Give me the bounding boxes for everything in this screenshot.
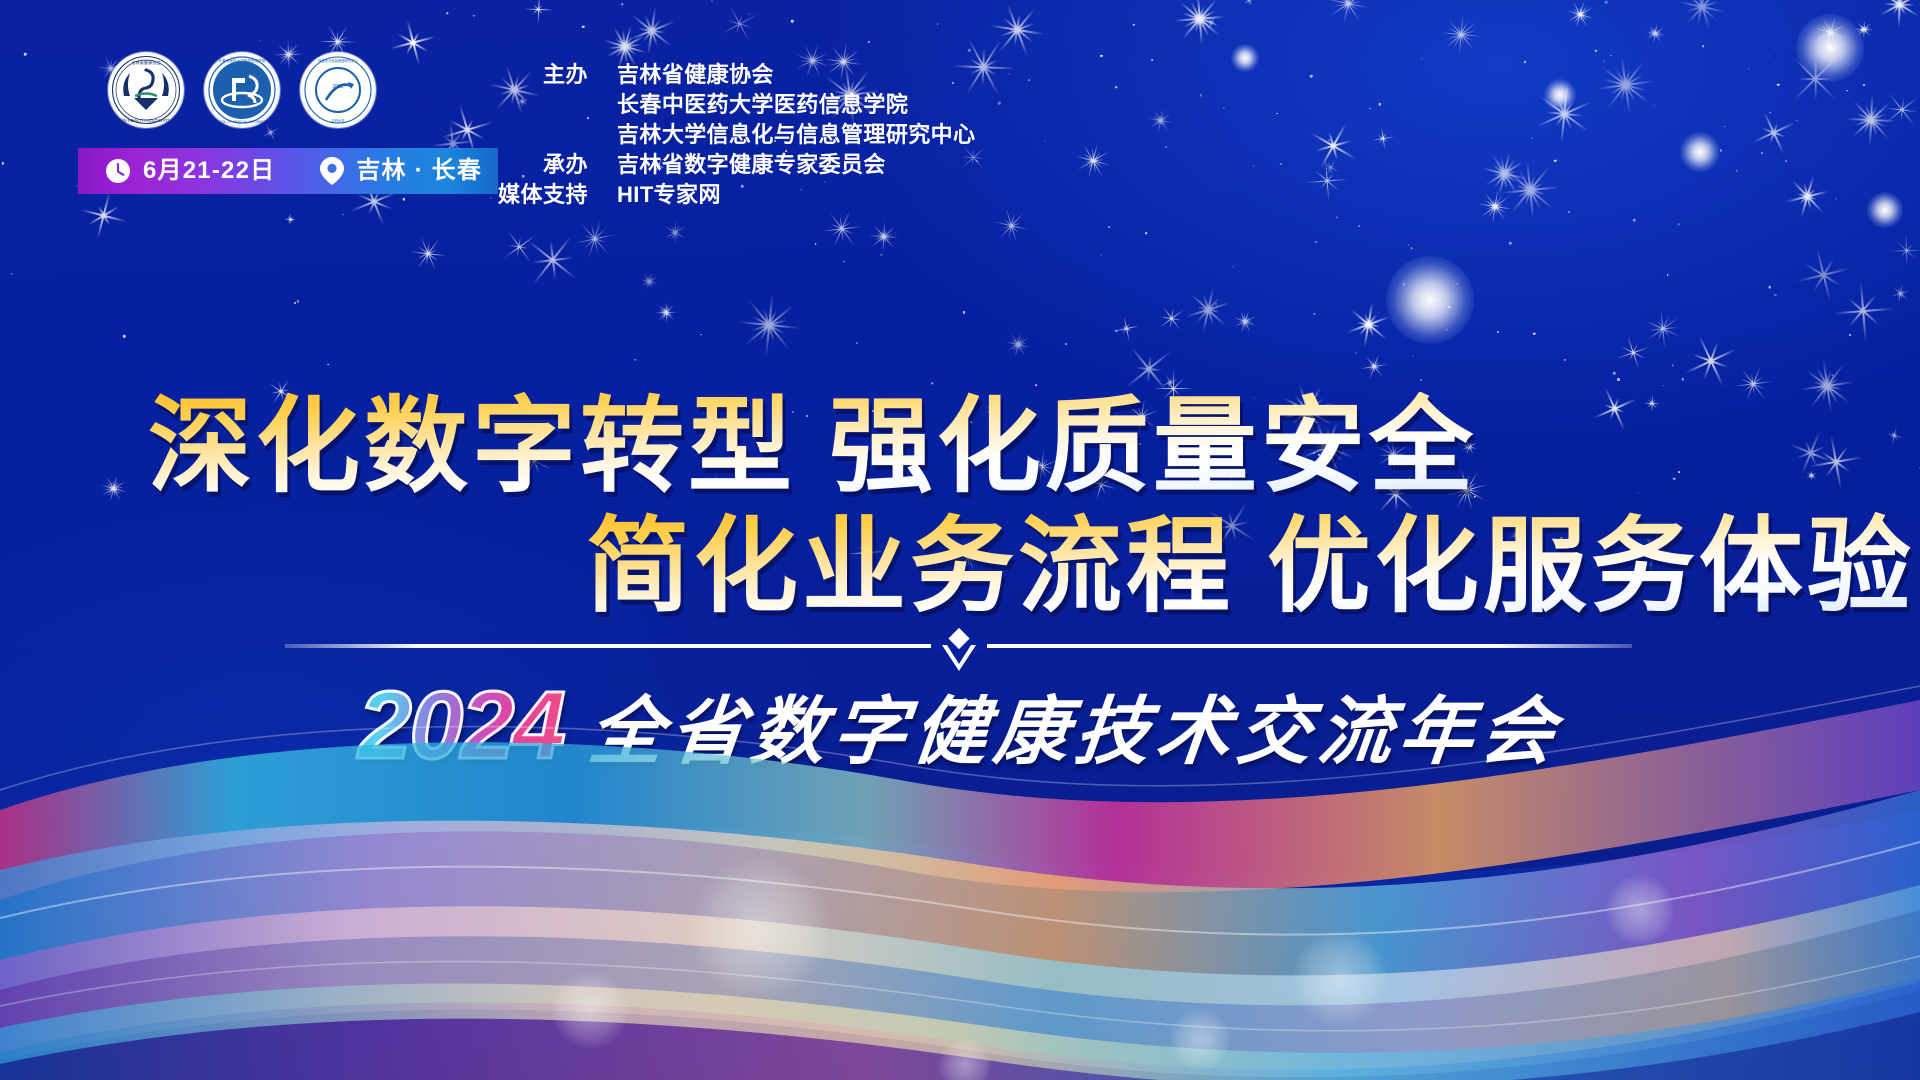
clock-icon [104, 157, 132, 185]
star-dot [1028, 79, 1030, 81]
organizer-label: 媒体支持 [498, 180, 601, 210]
star-dot [1617, 378, 1619, 380]
svg-text:吉林省健康协会: 吉林省健康协会 [131, 59, 161, 66]
star-dot [1448, 305, 1450, 307]
star-dot [700, 334, 702, 336]
svg-text:SCHOOL OF MEDICAL INFORMATION: SCHOOL OF MEDICAL INFORMATION [212, 120, 273, 124]
star-dot [968, 49, 971, 52]
star-dot [1769, 112, 1771, 114]
star-dot [998, 102, 1001, 105]
star-dot [1724, 126, 1726, 128]
star-dot [1408, 245, 1409, 246]
star-dot [932, 383, 933, 384]
organizer-value: 吉林省健康协会 [603, 60, 975, 90]
star-dot [1603, 61, 1604, 62]
star-dot [963, 311, 965, 313]
svg-text:信息化与信息管理研究中心: 信息化与信息管理研究中心 [318, 58, 358, 63]
star-dot [1100, 254, 1101, 255]
location-group: 吉林 · 长春 [319, 156, 482, 186]
star-dot [1863, 83, 1865, 85]
headline-line-2: 简化业务流程 优化服务体验 [586, 512, 1915, 622]
star-dot [1115, 329, 1117, 331]
star-dot [1420, 380, 1422, 382]
star-dot [1832, 375, 1833, 376]
star-dot [1672, 365, 1673, 366]
star-dot [868, 41, 870, 43]
star-dot [1200, 94, 1202, 96]
svg-text:长春中医药大学医药信息学院: 长春中医药大学医药信息学院 [219, 58, 266, 63]
star-dot [1044, 140, 1046, 142]
star-dot [1849, 334, 1851, 336]
star-dot [24, 53, 26, 55]
star-dot [1524, 61, 1526, 63]
star-dot [1315, 241, 1317, 243]
star-dot [815, 243, 817, 245]
star-dot [1633, 219, 1636, 222]
star-dot [327, 364, 329, 366]
organizers-block: 主办吉林省健康协会长春中医药大学医药信息学院吉林大学信息化与信息管理研究中心承办… [498, 60, 975, 210]
star-dot [1736, 169, 1739, 172]
star-dot [1232, 266, 1234, 268]
star-dot [343, 214, 345, 216]
svg-text:JILIN HEALTH ASSOCIATION: JILIN HEALTH ASSOCIATION [116, 118, 175, 123]
star-dot [1761, 152, 1763, 154]
star-dot [582, 26, 585, 29]
star-dot [976, 160, 978, 162]
organizer-value: HIT专家网 [603, 180, 975, 210]
star-dot [1663, 385, 1665, 387]
star-dot [1667, 274, 1669, 276]
star-dot [1774, 294, 1776, 296]
star-dot [1533, 332, 1536, 335]
star-dot [1276, 113, 1278, 115]
star-dot [1846, 90, 1847, 91]
organizer-value: 长春中医药大学医药信息学院 [603, 90, 975, 120]
star-glow [1680, 132, 1720, 172]
star-dot [1769, 55, 1770, 56]
star-dot [1132, 23, 1135, 26]
jilin-health-association-logo: JILIN HEALTH ASSOCIATION 吉林省健康协会 [108, 52, 184, 128]
star-dot [1310, 75, 1312, 77]
star-dot [1355, 352, 1356, 353]
date-group: 6月21-22日 [104, 157, 275, 185]
svg-text:吉林大学: 吉林大学 [331, 118, 345, 123]
star-dot [843, 261, 845, 263]
star-dot [123, 335, 125, 337]
star-dot [791, 20, 793, 22]
star-glow [1867, 192, 1903, 228]
star-dot [1564, 359, 1566, 361]
changchun-medical-information-school-logo: 长春中医药大学医药信息学院 SCHOOL OF MEDICAL INFORMAT… [204, 52, 280, 128]
map-pin-icon [319, 156, 345, 186]
star-dot [1497, 331, 1499, 333]
star-dot [1613, 372, 1616, 375]
logo-row: JILIN HEALTH ASSOCIATION 吉林省健康协会 长春中医药大学… [108, 52, 376, 128]
star-dot [1605, 1, 1608, 4]
star-dot [621, 4, 622, 5]
headline-line-1: 深化数字转型 强化质量安全 [148, 392, 1477, 502]
star-dot [403, 198, 405, 200]
star-dot [1402, 283, 1404, 285]
star-dot [937, 23, 939, 25]
star-dot [1786, 160, 1788, 162]
star-dot [1796, 120, 1797, 121]
star-dot [297, 300, 299, 302]
star-dot [1413, 355, 1414, 356]
star-dot [1421, 58, 1422, 59]
star-dot [1447, 329, 1448, 330]
star-dot [1108, 226, 1110, 228]
headline-block: 深化数字转型 强化质量安全 简化业务流程 优化服务体验 [0, 392, 1920, 622]
wave-graphic [0, 660, 1920, 1080]
star-dot [1146, 232, 1148, 234]
star-dot [1008, 74, 1009, 75]
star-glow [1386, 256, 1474, 344]
star-dot [1100, 55, 1102, 57]
star-dot [1610, 55, 1612, 57]
star-dot [1554, 159, 1556, 161]
star-dot [712, 0, 713, 1]
star-dot [1595, 50, 1597, 52]
star-dot [490, 197, 491, 198]
organizer-value: 吉林省数字健康专家委员会 [603, 150, 975, 180]
star-dot [1379, 103, 1381, 105]
star-dot [1336, 217, 1337, 218]
star-dot [447, 13, 448, 14]
star-dot [1678, 224, 1679, 225]
star-glow [1796, 14, 1864, 82]
conference-banner: JILIN HEALTH ASSOCIATION 吉林省健康协会 长春中医药大学… [0, 0, 1920, 1080]
star-dot [1253, 165, 1254, 166]
star-dot [1653, 106, 1654, 107]
star-dot [1531, 137, 1532, 138]
organizer-label: 承办 [498, 150, 601, 180]
date-text: 6月21-22日 [143, 159, 275, 183]
star-dot [748, 14, 749, 15]
date-location-pill: 6月21-22日 吉林 · 长春 [78, 148, 498, 194]
jilin-university-information-center-logo: 2012 信息化与信息管理研究中心 吉林大学 [300, 52, 376, 128]
star-dot [856, 342, 858, 344]
star-dot [1509, 242, 1512, 245]
star-dot [1749, 68, 1750, 69]
organizer-label: 主办 [498, 60, 601, 90]
star-dot [1314, 313, 1315, 314]
star-dot [1280, 163, 1282, 165]
star-dot [1358, 225, 1360, 227]
star-dot [1702, 45, 1704, 47]
star-dot [2, 162, 4, 164]
organizer-value: 吉林大学信息化与信息管理研究中心 [603, 120, 975, 150]
star-dot [1151, 59, 1153, 61]
star-dot [1836, 198, 1837, 199]
star-glow [1231, 44, 1259, 72]
star-dot [11, 274, 12, 275]
star-dot [1165, 146, 1167, 148]
star-dot [1369, 108, 1371, 110]
star-dot [1035, 384, 1037, 386]
star-dot [1215, 303, 1217, 305]
star-dot [1568, 211, 1570, 213]
star-dot [1681, 378, 1684, 381]
star-dot [294, 302, 296, 304]
star-glow [1544, 79, 1576, 111]
star-dot [881, 254, 882, 255]
star-dot [1065, 343, 1067, 345]
star-dot [635, 359, 636, 360]
star-dot [1906, 250, 1907, 251]
star-dot [1457, 283, 1458, 284]
star-dot [1777, 84, 1780, 87]
star-dot [1768, 286, 1771, 289]
star-dot [1329, 139, 1331, 141]
star-dot [1115, 87, 1116, 88]
star-dot [472, 15, 474, 17]
star-dot [1720, 149, 1722, 151]
star-dot [1411, 247, 1413, 249]
svg-text:2012: 2012 [332, 84, 343, 90]
star-dot [259, 40, 260, 41]
star-dot [1378, 312, 1379, 313]
location-text: 吉林 · 长春 [356, 159, 482, 183]
star-dot [1223, 107, 1224, 108]
